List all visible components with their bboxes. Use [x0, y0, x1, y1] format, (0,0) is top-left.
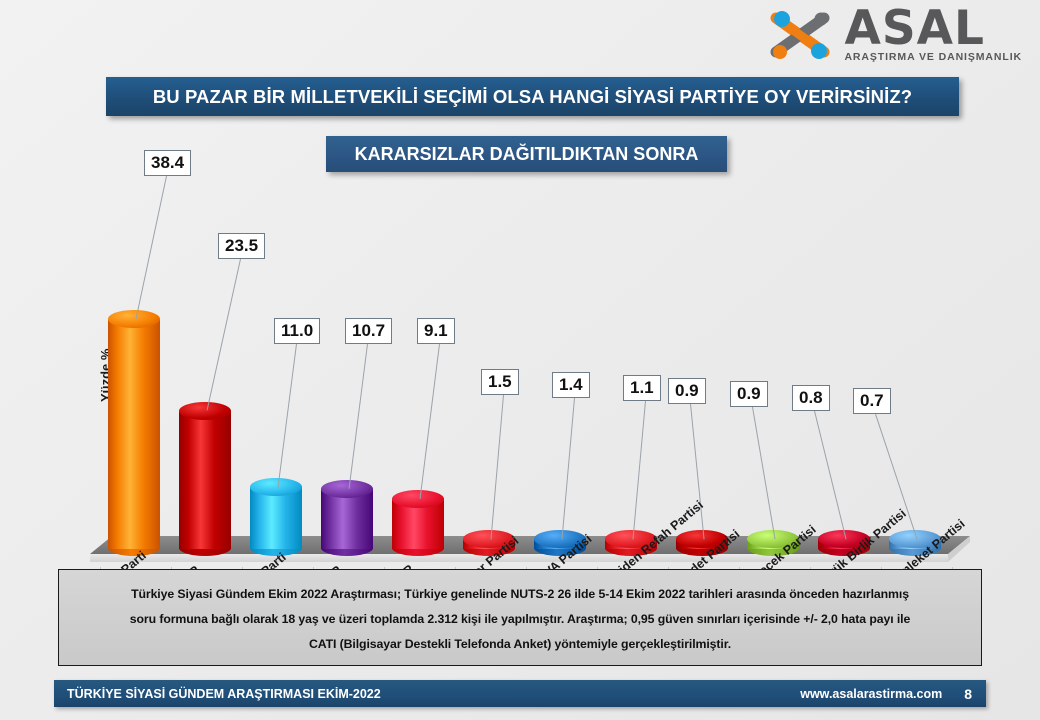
bar-deva-partisi[interactable] [534, 120, 586, 550]
methodology-line-3: CATI (Bilgisayar Destekli Telefonda Anke… [77, 632, 963, 657]
cylinder-body [321, 489, 373, 549]
cylinder-top [321, 480, 373, 498]
methodology-line-1: Türkiye Siyasi Gündem Ekim 2022 Araştırm… [77, 582, 963, 607]
cylinder-top [108, 310, 160, 328]
page-title-banner: BU PAZAR BİR MİLLETVEKİLİ SEÇİMİ OLSA HA… [106, 77, 959, 116]
page-title: BU PAZAR BİR MİLLETVEKİLİ SEÇİMİ OLSA HA… [153, 86, 912, 108]
data-label: 10.7 [345, 318, 392, 344]
page-number: 8 [964, 686, 972, 702]
bar-chart: Yüzde % [0, 120, 1040, 560]
bar-zafer-partisi[interactable] [463, 120, 515, 550]
page-footer: TÜRKİYE SİYASİ GÜNDEM ARAŞTIRMASI EKİM-2… [54, 680, 986, 707]
cylinder-top [179, 402, 231, 420]
bar-series: 38.423.511.010.79.11.51.41.10.90.90.80.7 [100, 120, 962, 550]
bar-büyük-birlik-partisi[interactable] [818, 120, 870, 550]
bar-yeniden-refah-partisi[interactable] [605, 120, 657, 550]
asal-logo-mark-icon [762, 6, 838, 64]
bar-gelecek-partisi[interactable] [747, 120, 799, 550]
cylinder-top [392, 490, 444, 508]
data-label: 0.7 [853, 388, 891, 414]
data-label: 11.0 [274, 318, 320, 344]
footer-website[interactable]: www.asalarastirma.com [800, 687, 942, 701]
cylinder [179, 402, 231, 556]
data-label: 1.5 [481, 369, 519, 395]
data-label: 0.9 [668, 378, 706, 404]
data-label: 1.4 [552, 372, 590, 398]
cylinder [108, 310, 160, 556]
cylinder-body [108, 319, 160, 549]
logo-wordmark: ASAL [844, 7, 985, 50]
methodology-line-2: soru formuna bağlı olarak 18 yaş ve üzer… [77, 607, 963, 632]
data-label: 1.1 [623, 375, 661, 401]
data-label: 0.8 [792, 385, 830, 411]
data-label: 0.9 [730, 381, 768, 407]
cylinder-body [250, 487, 302, 549]
methodology-note: Türkiye Siyasi Gündem Ekim 2022 Araştırm… [58, 569, 982, 666]
cylinder [250, 478, 302, 556]
cylinder [321, 480, 373, 556]
bar-ak-parti[interactable] [108, 120, 160, 550]
asal-logo: ASAL ARAŞTIRMA VE DANIŞMANLIK [762, 6, 1022, 64]
footer-title: TÜRKİYE SİYASİ GÜNDEM ARAŞTIRMASI EKİM-2… [67, 687, 381, 701]
logo-tagline: ARAŞTIRMA VE DANIŞMANLIK [844, 51, 1022, 63]
cylinder-body [179, 411, 231, 549]
cylinder [392, 490, 444, 556]
data-label: 9.1 [417, 318, 455, 344]
bar-saadet-partisi[interactable] [676, 120, 728, 550]
bar-memleket-partisi[interactable] [889, 120, 941, 550]
